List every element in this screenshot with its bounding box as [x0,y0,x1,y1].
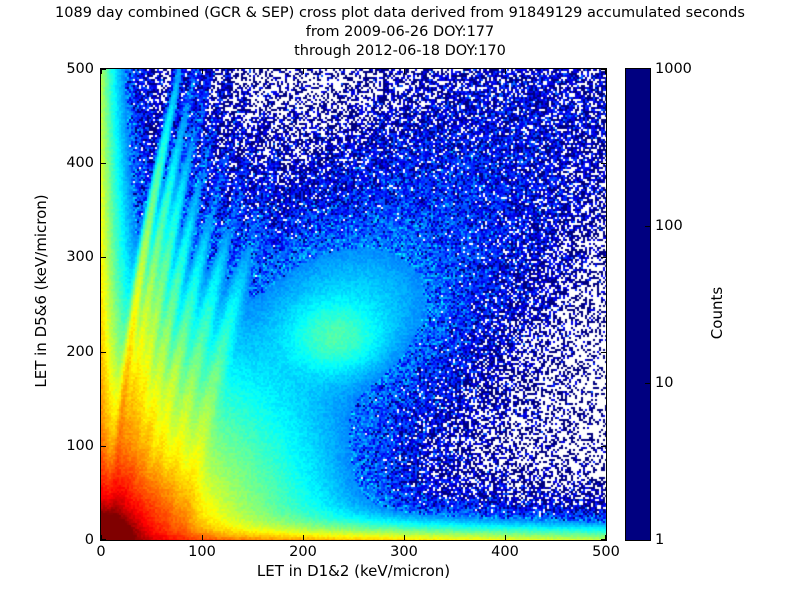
y-tick-label: 100 [52,438,94,454]
x-tick-mark [202,69,203,74]
figure-canvas: 1089 day combined (GCR & SEP) cross plot… [0,0,800,600]
colorbar-tick-label: 100 [655,218,683,234]
y-tick-label: 0 [52,532,94,548]
plot-title-line-1: 1089 day combined (GCR & SEP) cross plot… [0,4,800,23]
plot-title-line-2: from 2009-06-26 DOY:177 [0,23,800,42]
colorbar-tick-label: 1 [655,532,664,548]
y-tick-mark [601,446,606,447]
x-tick-mark [303,69,304,74]
y-tick-mark [101,352,106,353]
colorbar-label: Counts [708,213,726,413]
x-axis-label: LET in D1&2 (keV/micron) [100,562,607,580]
x-tick-label: 0 [96,544,105,560]
x-tick-mark [404,69,405,74]
y-tick-mark [601,69,606,70]
y-tick-mark [601,163,606,164]
colorbar-tick-mark [645,226,650,227]
y-tick-mark [101,257,106,258]
x-tick-label: 200 [289,544,317,560]
x-tick-mark [505,535,506,540]
y-tick-mark [601,257,606,258]
plot-title: 1089 day combined (GCR & SEP) cross plot… [0,4,800,61]
x-tick-label: 400 [491,544,519,560]
y-tick-mark [101,69,106,70]
plot-title-line-3: through 2012-06-18 DOY:170 [0,42,800,61]
colorbar-tick-mark [645,383,650,384]
y-tick-label: 200 [52,344,94,360]
colorbar-gradient [626,69,650,540]
y-tick-label: 300 [52,249,94,265]
y-tick-mark [101,539,106,540]
colorbar [625,68,651,541]
y-tick-mark [101,446,106,447]
x-tick-mark [202,535,203,540]
heatmap-data-area [101,69,606,540]
x-tick-mark [303,535,304,540]
colorbar-tick-label: 10 [655,375,673,391]
x-tick-label: 500 [592,544,620,560]
y-tick-label: 400 [52,155,94,171]
y-axis-label: LET in D5&6 (keV/micron) [32,141,50,441]
y-tick-mark [601,539,606,540]
y-tick-label: 500 [52,61,94,77]
plot-axes [100,68,607,541]
x-tick-label: 100 [188,544,216,560]
y-tick-mark [601,352,606,353]
x-tick-mark [505,69,506,74]
x-tick-mark [404,535,405,540]
x-tick-label: 300 [390,544,418,560]
y-tick-mark [101,163,106,164]
colorbar-tick-label: 1000 [655,61,692,77]
